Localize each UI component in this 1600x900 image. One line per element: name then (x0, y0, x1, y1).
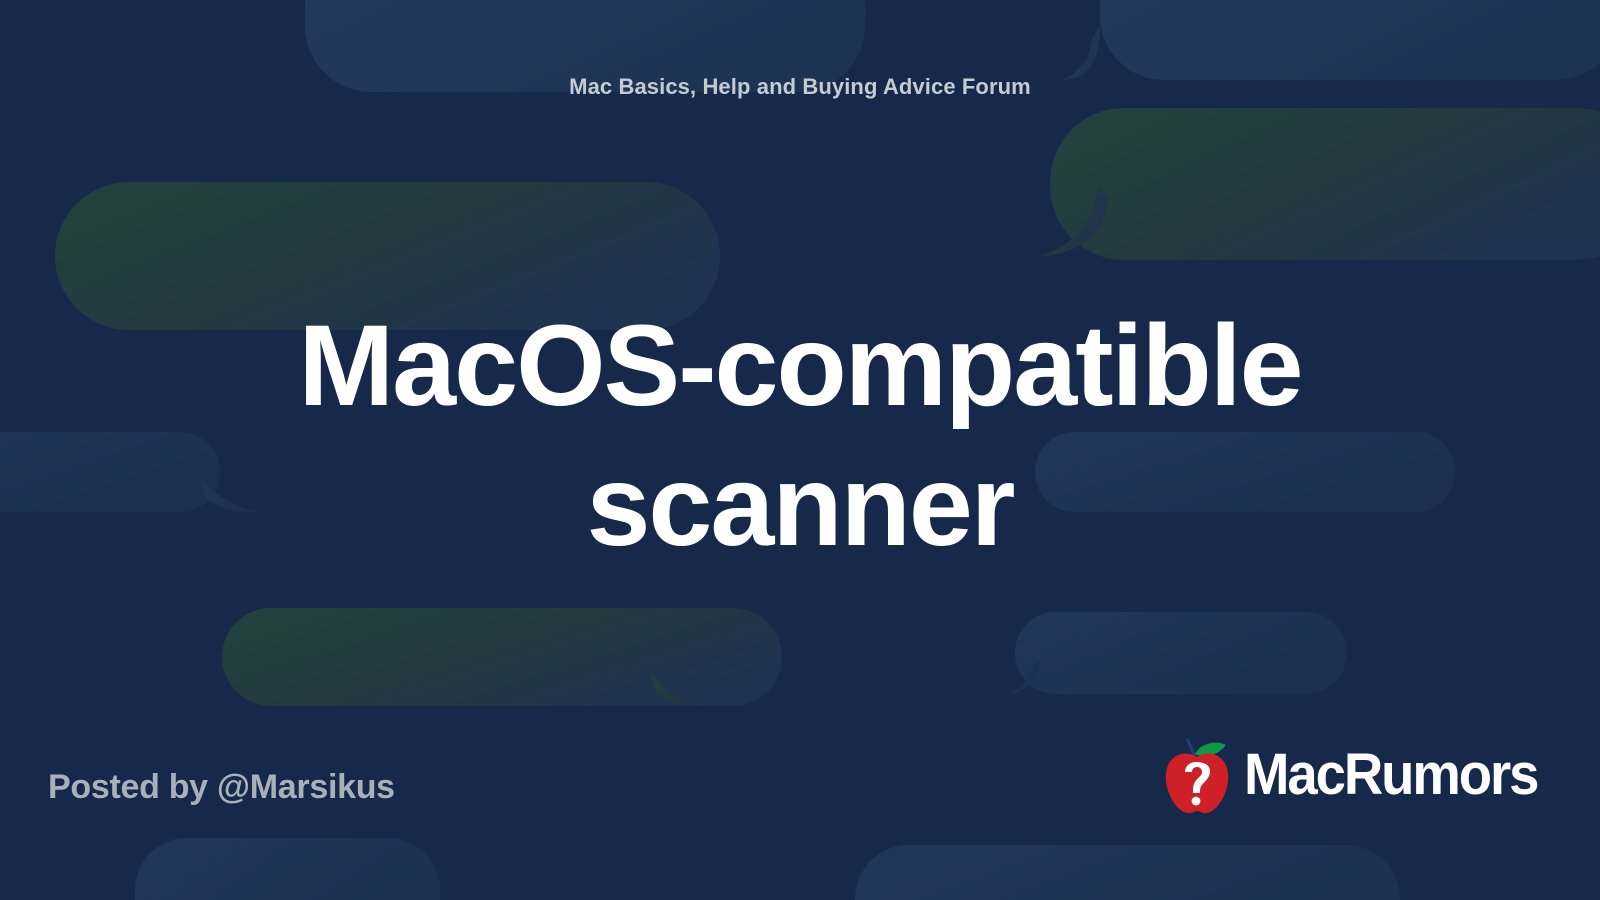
forum-label: Mac Basics, Help and Buying Advice Forum (0, 74, 1600, 100)
page-title: MacOS-compatible scanner (0, 296, 1600, 576)
macrumors-logo: MacRumors (1160, 735, 1556, 815)
macrumors-apple-question-mark-icon (1160, 735, 1234, 815)
byline: Posted by @Marsikus (48, 768, 395, 807)
page-title-line-2: scanner (586, 442, 1013, 570)
page-title-line-1: MacOS-compatible (298, 302, 1301, 430)
share-card: Mac Basics, Help and Buying Advice Forum… (0, 0, 1600, 900)
macrumors-wordmark: MacRumors (1244, 746, 1537, 804)
